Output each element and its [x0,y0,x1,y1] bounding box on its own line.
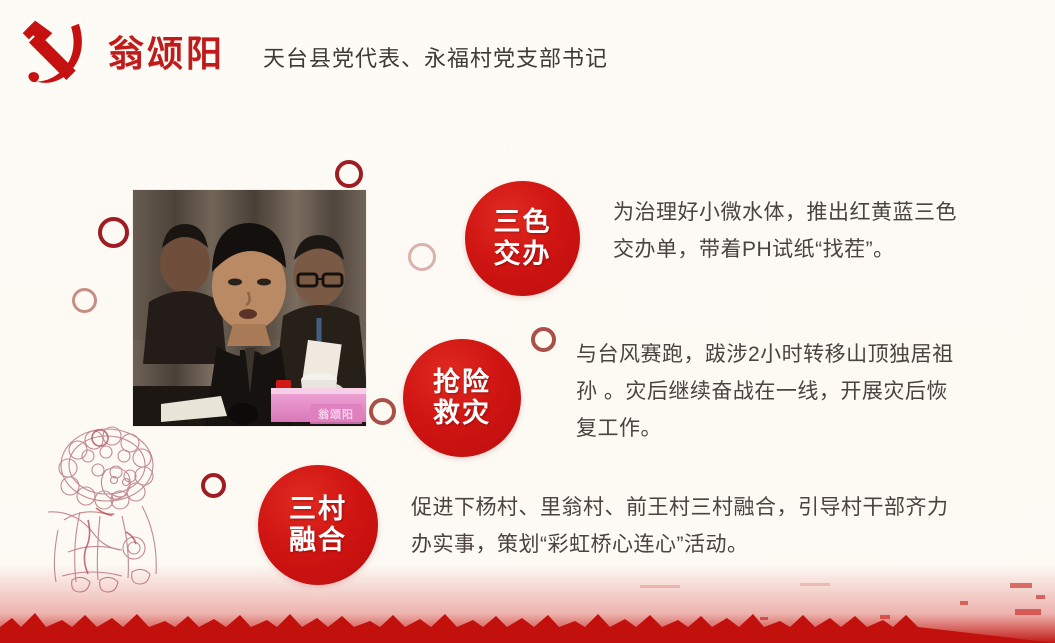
deco-ring-1 [335,160,363,188]
deco-ring-6 [369,398,396,425]
hammer-and-sickle-icon [16,16,98,94]
deco-ring-3 [72,288,97,313]
badge-item-2-line2: 融合 [289,525,347,556]
description-item-1: 与台风赛跑，跋涉2小时转移山顶独居祖孙 。灾后继续奋战在一线，开展灾后恢复工作。 [576,336,958,447]
badge-item-0-line2: 交办 [494,239,552,270]
badge-item-1: 抢险 救灾 [403,339,521,457]
description-item-0: 为治理好小微水体，推出红黄蓝三色交办单，带着PH试纸“找茬”。 [613,194,963,268]
person-title: 天台县党代表、永福村党支部书记 [263,44,608,74]
speaker-photo: 翁颂阳 [133,190,366,426]
deco-ring-5 [531,327,556,352]
slide-canvas: 翁颂阳 天台县党代表、永福村党支部书记 [0,0,1055,643]
badge-item-1-line2: 救灾 [433,398,491,429]
deco-ring-4 [408,243,436,271]
red-crowd-silhouette [0,565,1055,643]
deco-ring-2 [98,217,129,248]
badge-item-1-line1: 抢险 [433,367,491,398]
badge-item-0: 三色 交办 [465,181,580,296]
header: 翁颂阳 天台县党代表、永福村党支部书记 [0,0,1055,108]
badge-item-0-line1: 三色 [494,207,552,238]
photo-nameplate: 翁颂阳 [310,404,362,424]
deco-ring-7 [201,473,226,498]
description-item-2: 促进下杨村、里翁村、前王村三村融合，引导村干部齐力办实事，策划“彩虹桥心连心”活… [411,489,961,563]
person-name: 翁颂阳 [108,30,225,78]
badge-item-2-line1: 三村 [289,494,347,525]
